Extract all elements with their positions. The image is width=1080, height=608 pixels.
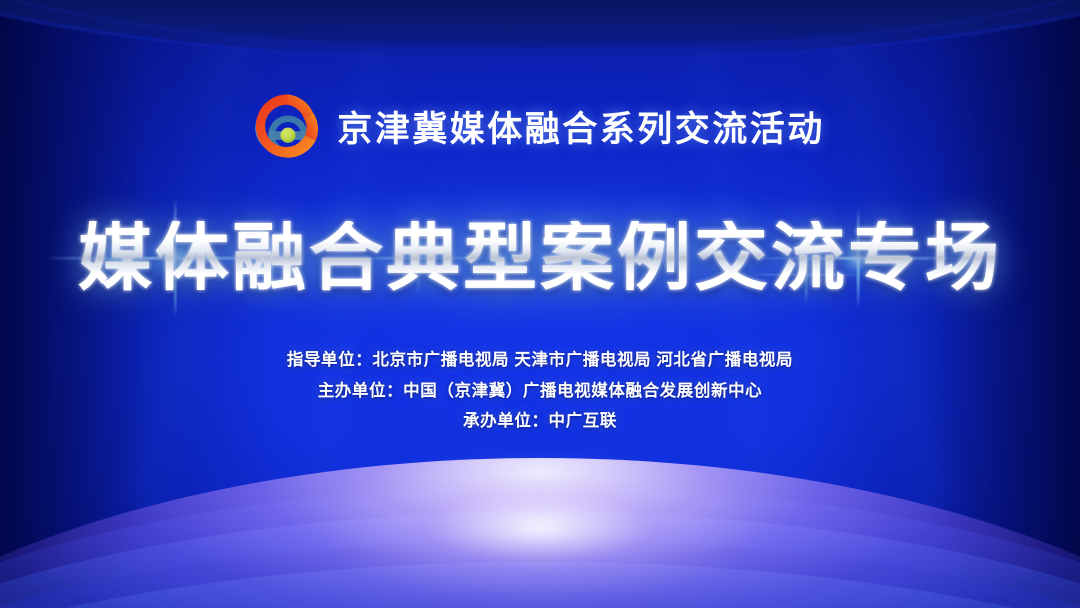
brand-row: 京津冀媒体融合系列交流活动 bbox=[0, 93, 1080, 159]
credit-line-host: 承办单位：中广互联 bbox=[0, 406, 1080, 437]
brand-name: 京津冀媒体融合系列交流活动 bbox=[337, 101, 825, 152]
hero-title-block: 媒体融合典型案例交流专场 bbox=[0, 206, 1080, 310]
credits-block: 指导单位：北京市广播电视局 天津市广播电视局 河北省广播电视局 主办单位：中国（… bbox=[0, 345, 1080, 437]
credit-line-organizer: 主办单位：中国（京津冀）广播电视媒体融合发展创新中心 bbox=[0, 376, 1080, 407]
poster-content: 京津冀媒体融合系列交流活动 媒体融合典型案例交流专场 指导单位：北京市广播电视局… bbox=[0, 0, 1080, 608]
page-title: 媒体融合典型案例交流专场 bbox=[78, 221, 1002, 295]
credit-line-guidance: 指导单位：北京市广播电视局 天津市广播电视局 河北省广播电视局 bbox=[0, 345, 1080, 376]
jingjinji-media-circle-logo-icon bbox=[255, 93, 321, 159]
event-poster: 京津冀媒体融合系列交流活动 媒体融合典型案例交流专场 指导单位：北京市广播电视局… bbox=[0, 0, 1080, 608]
